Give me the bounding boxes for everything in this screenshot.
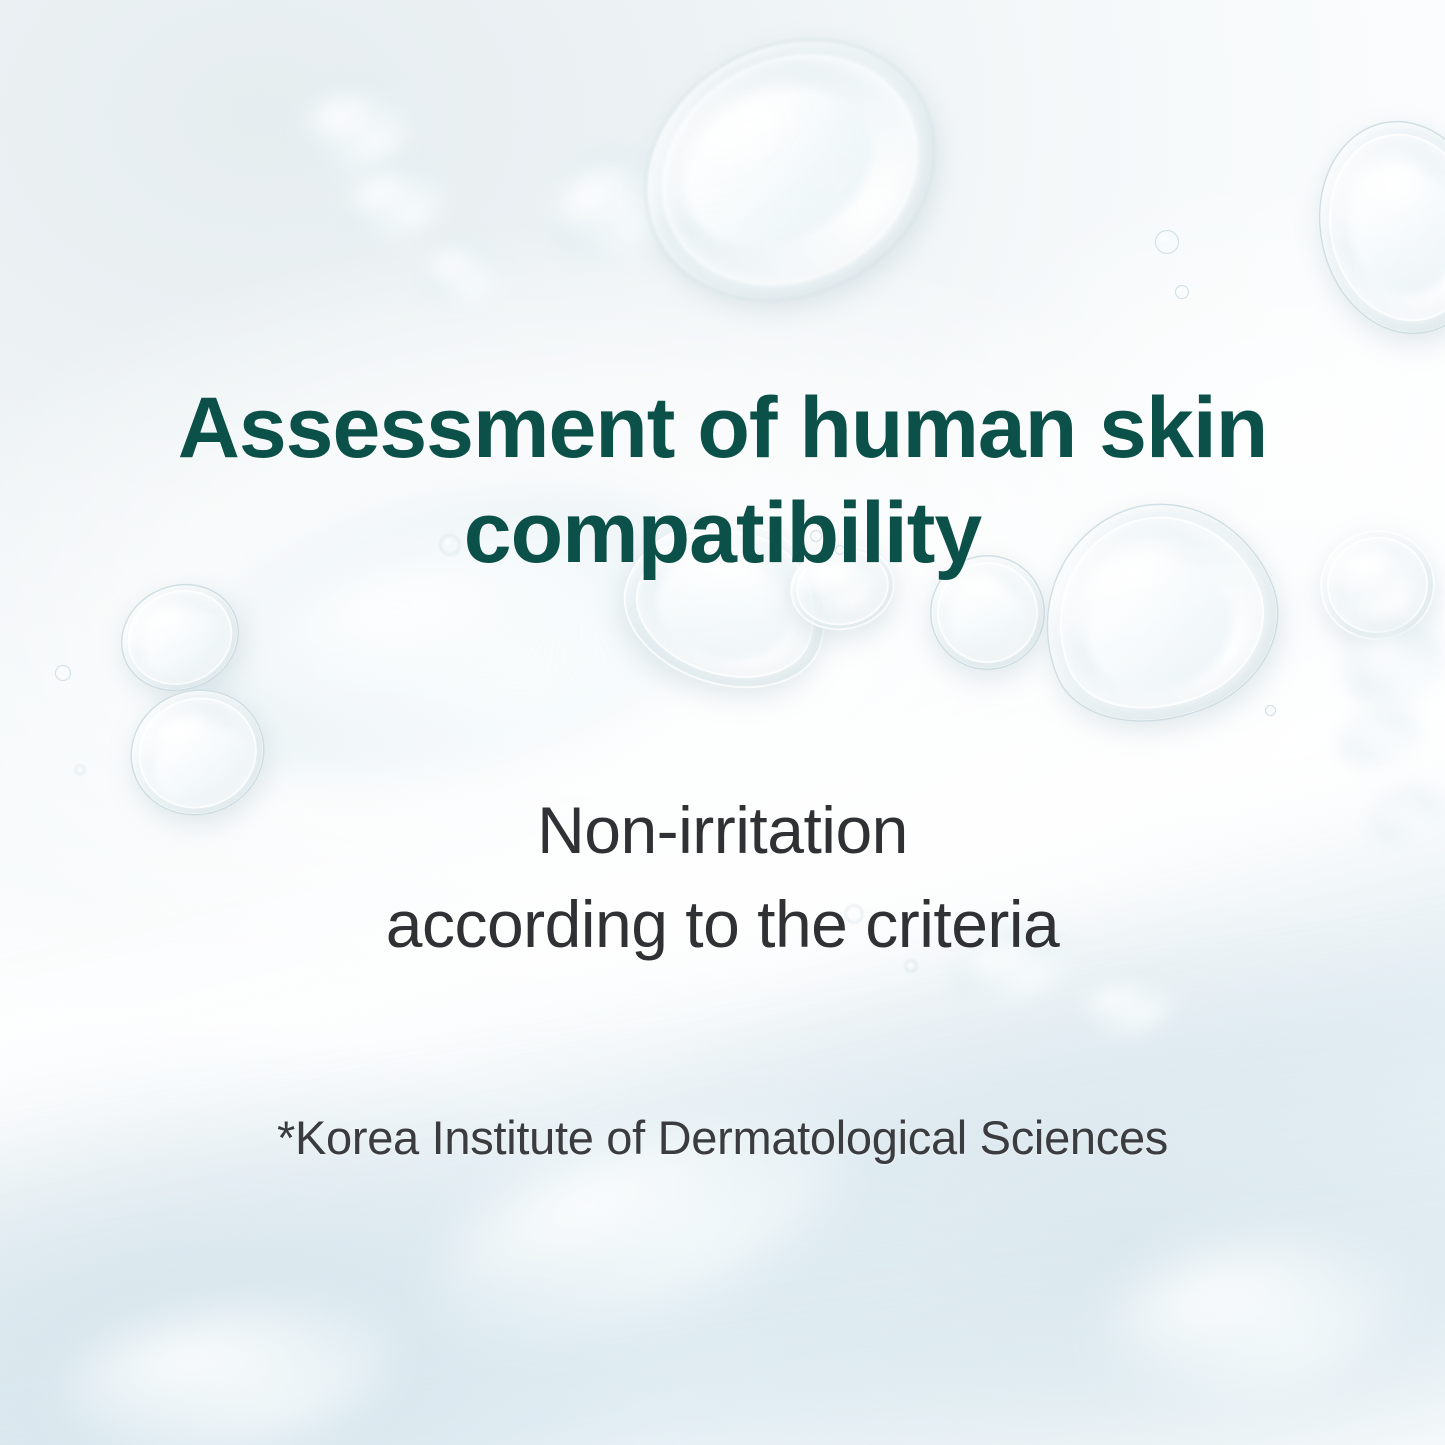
text-overlay: Assessment of human skin compatibility N… xyxy=(0,0,1445,1445)
promotional-slide: Assessment of human skin compatibility N… xyxy=(0,0,1445,1445)
subheadline: Non-irritation according to the criteria xyxy=(0,784,1445,971)
footnote-source: *Korea Institute of Dermatological Scien… xyxy=(0,1110,1445,1165)
headline: Assessment of human skin compatibility xyxy=(0,376,1445,586)
